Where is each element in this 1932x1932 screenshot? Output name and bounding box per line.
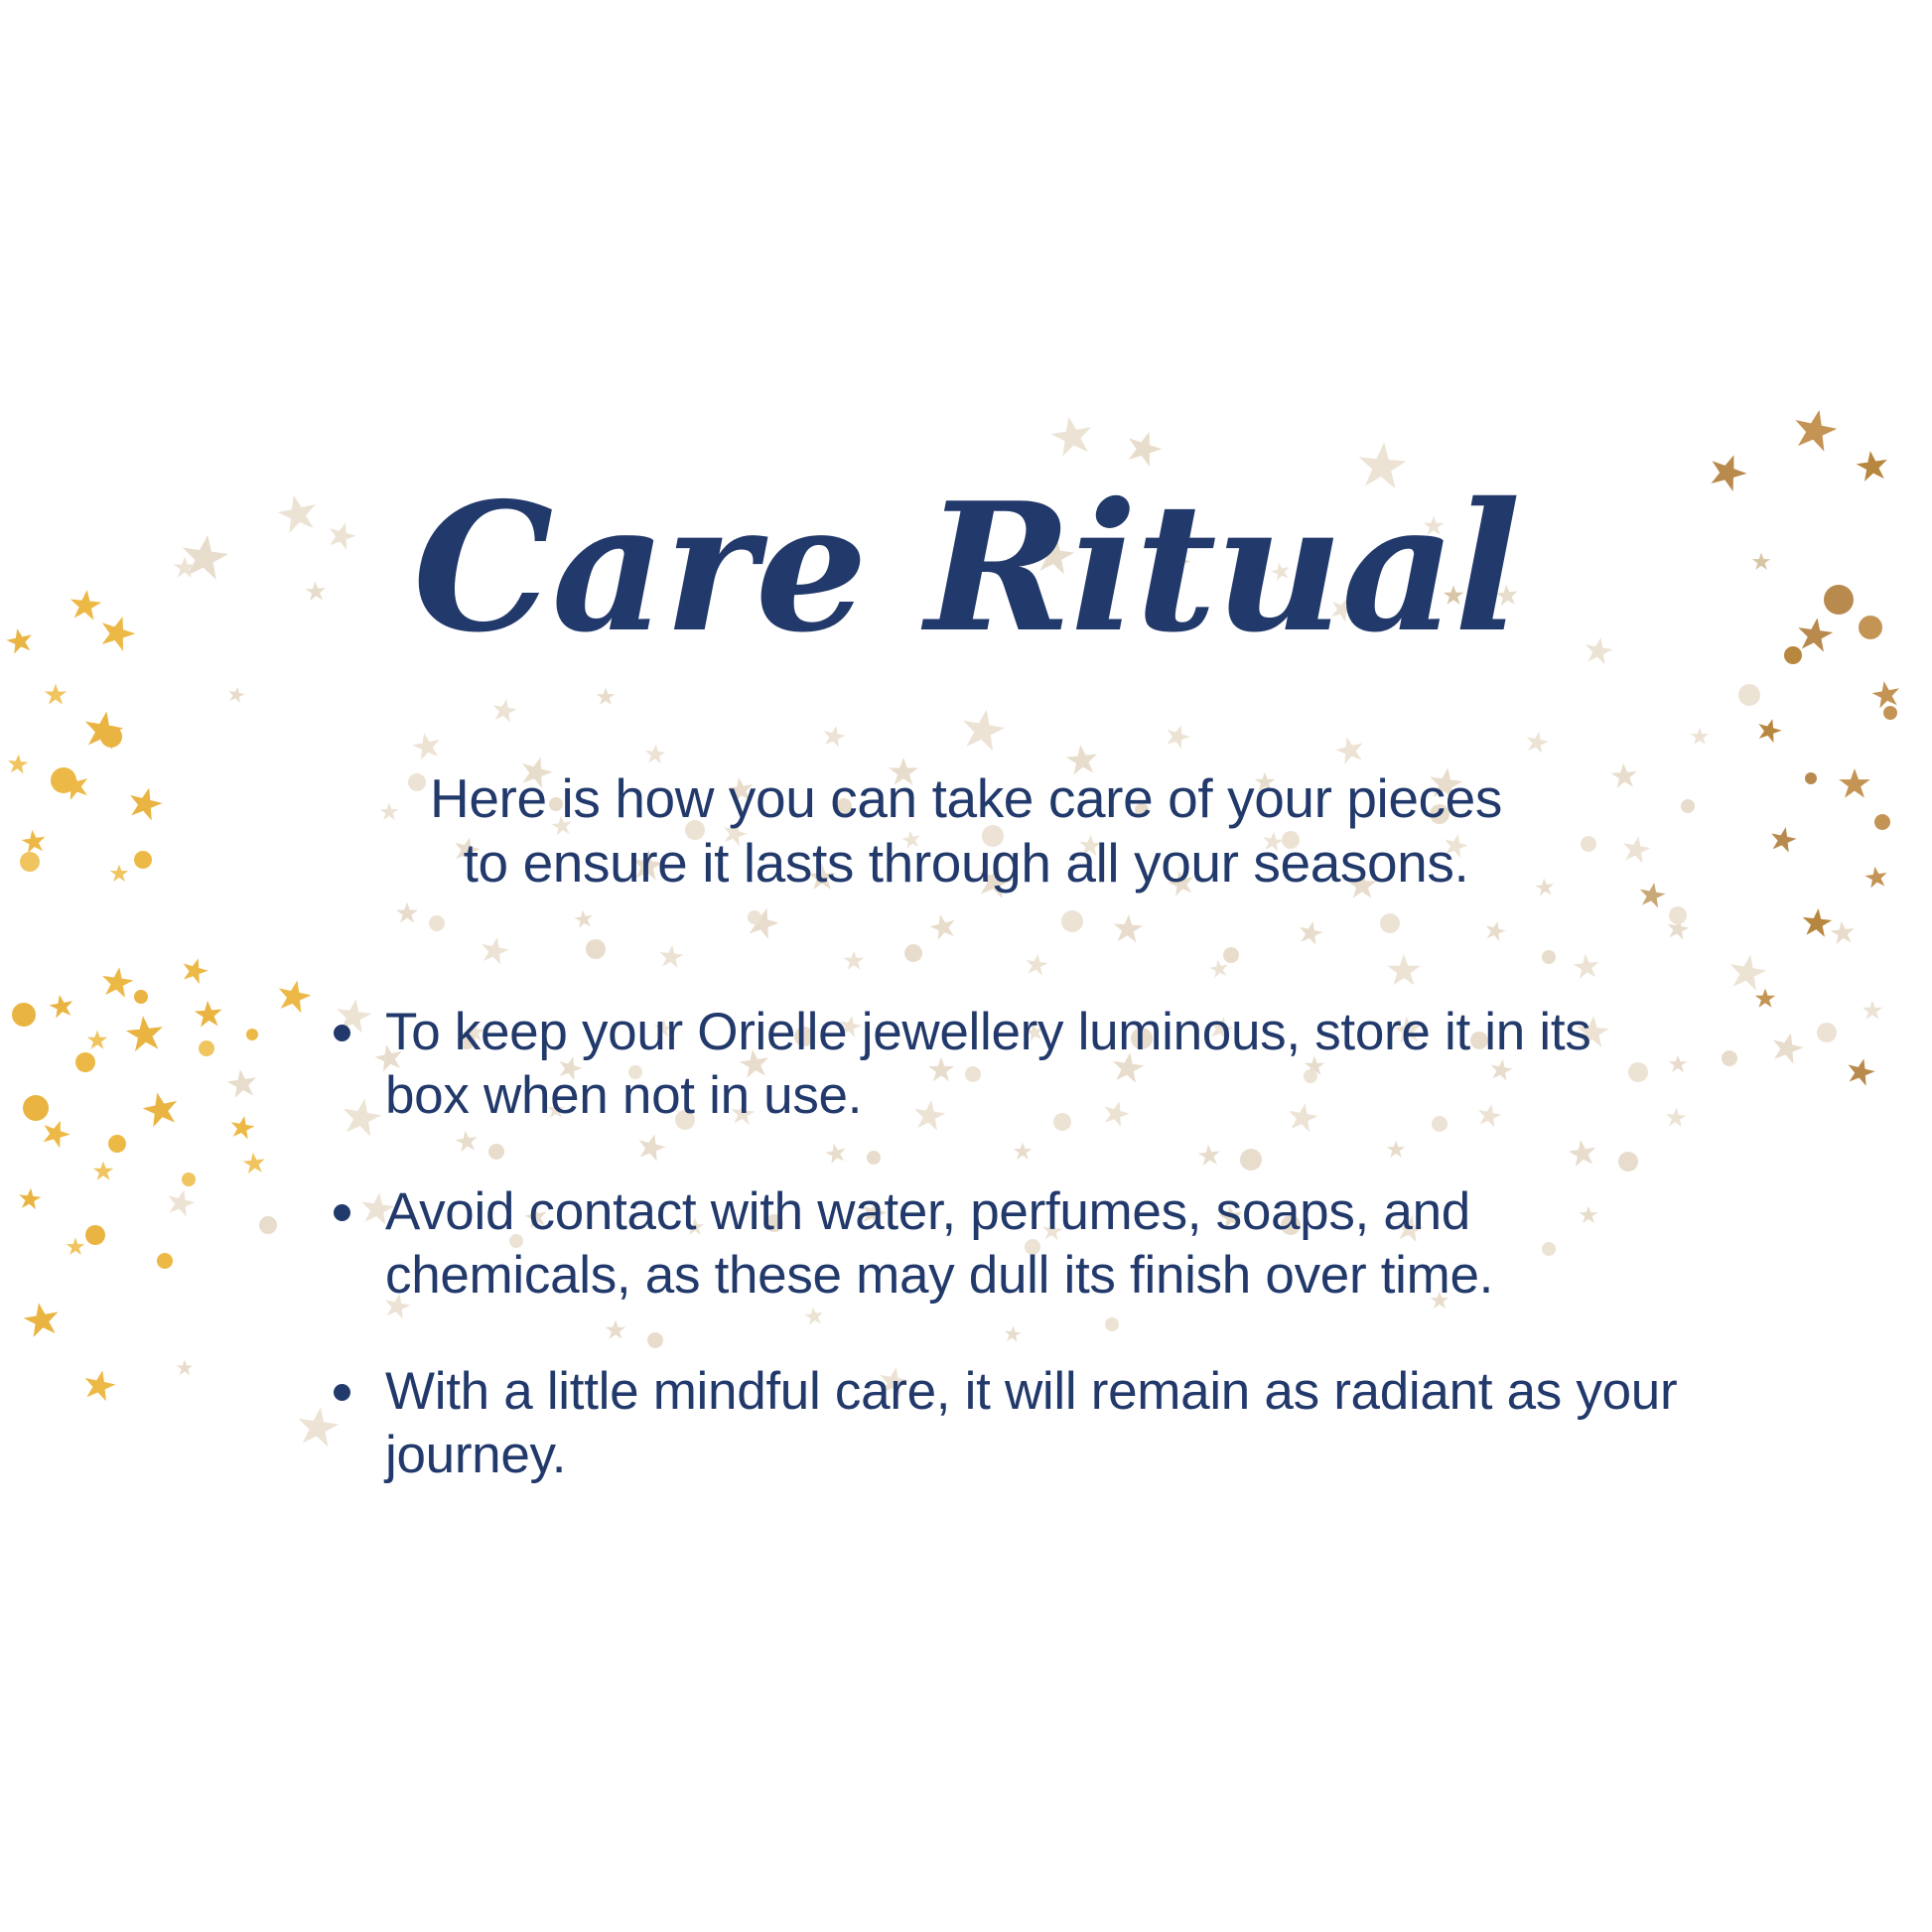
bullet-dot-icon (334, 1204, 350, 1221)
bullet-dot-icon (334, 1025, 350, 1041)
page-title: Care Ritual (0, 473, 1932, 663)
list-item: With a little mindful care, it will rema… (330, 1360, 1680, 1486)
list-item-text: Avoid contact with water, perfumes, soap… (385, 1180, 1680, 1307)
list-item: To keep your Orielle jewellery luminous,… (330, 1001, 1680, 1127)
bullet-dot-icon (334, 1384, 350, 1401)
list-item-text: With a little mindful care, it will rema… (385, 1360, 1680, 1486)
list-item-text: To keep your Orielle jewellery luminous,… (385, 1001, 1680, 1127)
care-ritual-card: Care Ritual Here is how you can take car… (0, 0, 1932, 1932)
subtitle-line-2: to ensure it lasts through all your seas… (0, 831, 1932, 896)
subtitle-line-1: Here is how you can take care of your pi… (0, 766, 1932, 831)
list-item: Avoid contact with water, perfumes, soap… (330, 1180, 1680, 1307)
subtitle: Here is how you can take care of your pi… (0, 766, 1932, 896)
care-instructions-list: To keep your Orielle jewellery luminous,… (330, 1001, 1680, 1487)
card-content: Care Ritual Here is how you can take car… (0, 0, 1932, 1932)
